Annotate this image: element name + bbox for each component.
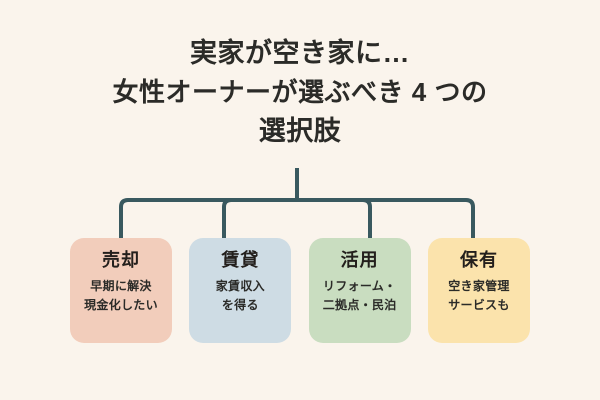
connector-branch-4 <box>297 200 473 238</box>
title-line-1: 実家が空き家に… <box>0 34 600 73</box>
connector-branch-1 <box>121 200 297 238</box>
choice-box-description: 早期に解決 現金化したい <box>84 277 158 315</box>
choice-box-desc-line-1: リフォーム・ <box>323 277 397 296</box>
choice-box-utilize[interactable]: 活用 リフォーム・ 二拠点・民泊 <box>309 238 411 343</box>
choice-box-desc-line-2: を得る <box>216 296 265 315</box>
choice-box-desc-line-2: サービスも <box>448 296 510 315</box>
choice-box-heading: 賃貸 <box>221 248 259 272</box>
title-line-2: 女性オーナーが選ぶべき 4 つの <box>0 73 600 112</box>
connector-branch-3 <box>297 200 370 238</box>
connector-branch-2 <box>224 200 297 238</box>
choice-box-desc-line-1: 空き家管理 <box>448 277 510 296</box>
choice-box-sell[interactable]: 売却 早期に解決 現金化したい <box>70 238 172 343</box>
choice-box-desc-line-1: 早期に解決 <box>84 277 158 296</box>
choice-box-desc-line-2: 二拠点・民泊 <box>323 296 397 315</box>
choice-box-description: 家賃収入 を得る <box>216 277 265 315</box>
choice-box-desc-line-1: 家賃収入 <box>216 277 265 296</box>
title-line-3: 選択肢 <box>0 112 600 151</box>
choice-box-heading: 活用 <box>341 248 379 272</box>
choice-box-desc-line-2: 現金化したい <box>84 296 158 315</box>
choice-box-heading: 保有 <box>460 248 498 272</box>
choice-box-rent[interactable]: 賃貸 家賃収入 を得る <box>189 238 291 343</box>
choice-box-description: 空き家管理 サービスも <box>448 277 510 315</box>
choice-box-hold[interactable]: 保有 空き家管理 サービスも <box>428 238 530 343</box>
choice-box-row: 売却 早期に解決 現金化したい 賃貸 家賃収入 を得る 活用 リフォーム・ 二拠… <box>70 238 530 343</box>
choice-box-description: リフォーム・ 二拠点・民泊 <box>323 277 397 315</box>
choice-box-heading: 売却 <box>102 248 140 272</box>
page-title: 実家が空き家に… 女性オーナーが選ぶべき 4 つの 選択肢 <box>0 34 600 151</box>
connector-bracket <box>0 168 600 244</box>
